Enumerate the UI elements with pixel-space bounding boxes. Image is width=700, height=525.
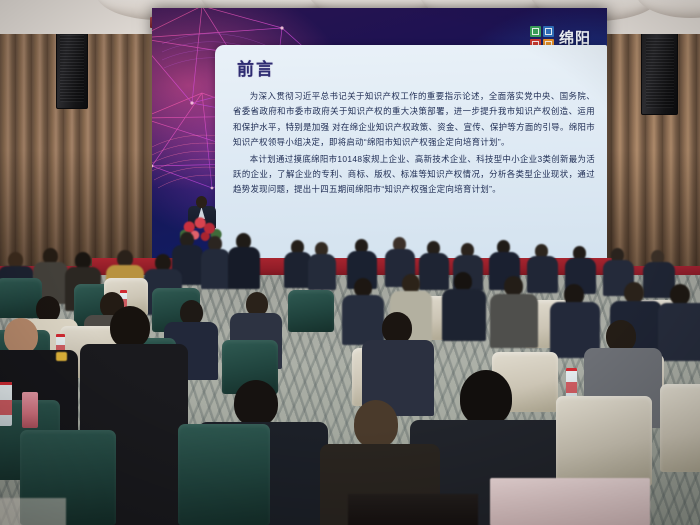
chair-back [178,424,270,525]
slide-title: 前言 [237,55,275,80]
chair-back [556,396,652,486]
table-card [348,494,478,525]
jacket-badge [56,352,67,361]
logo-square-blue [543,26,554,37]
pink-thermos [22,392,38,428]
slide-paragraph-1: 为深入贯彻习近平总书记关于知识产权工作的重要指示论述，全面落实党中央、国务院、省… [233,89,595,151]
table-card [0,498,66,525]
logo-square-green [530,26,541,37]
slide-content-panel: 前言 为深入贯彻习近平总书记关于知识产权工作的重要指示论述，全面落实党中央、国务… [215,45,607,266]
slide-body: 为深入贯彻习近平总书记关于知识产权工作的重要指示论述，全面落实党中央、国务院、省… [233,89,595,198]
conference-hall-photo: 绵阳 前言 为深入贯彻习近平总书记关于知识产权工作的重要指示论述，全面落实党中央… [0,0,700,525]
chair-back [288,290,334,332]
table-card [490,478,650,525]
water-bottle [0,382,12,426]
chair-back [660,384,700,472]
presenter-head [196,196,207,208]
slide-paragraph-2: 本计划通过摸底绵阳市10148家规上企业、高新技术企业、科技型中小企业3类创新最… [233,152,595,198]
